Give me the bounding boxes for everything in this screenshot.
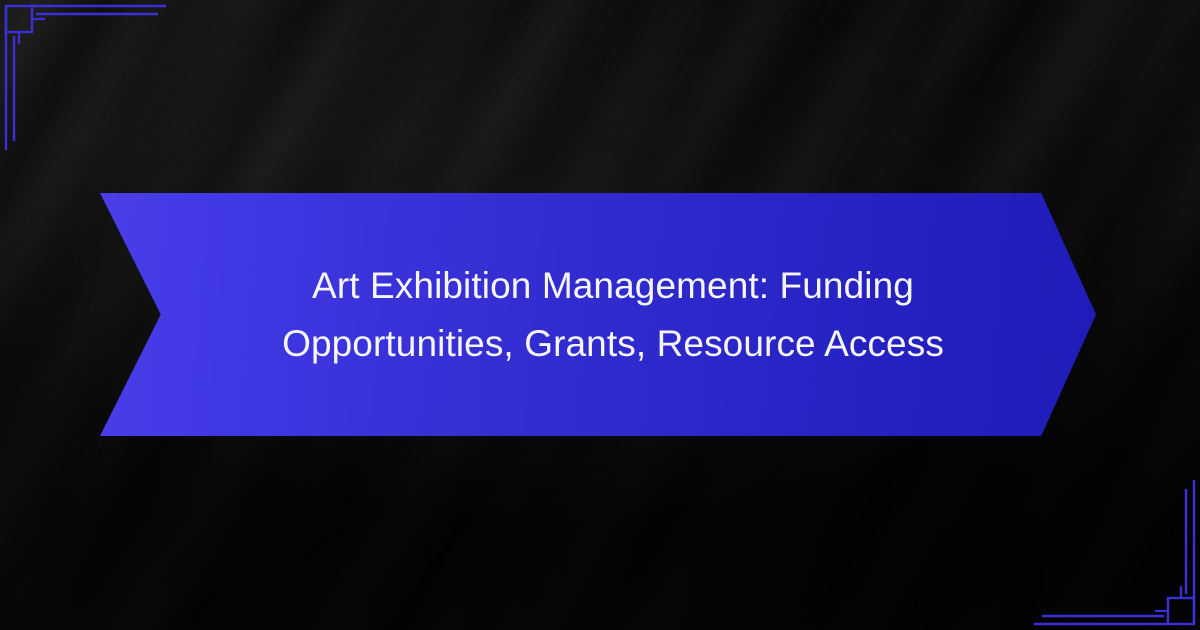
banner-card: Art Exhibition Management: Funding Oppor… (0, 0, 1200, 630)
page-title: Art Exhibition Management: Funding Oppor… (263, 257, 963, 372)
title-banner: Art Exhibition Management: Funding Oppor… (100, 193, 1096, 436)
